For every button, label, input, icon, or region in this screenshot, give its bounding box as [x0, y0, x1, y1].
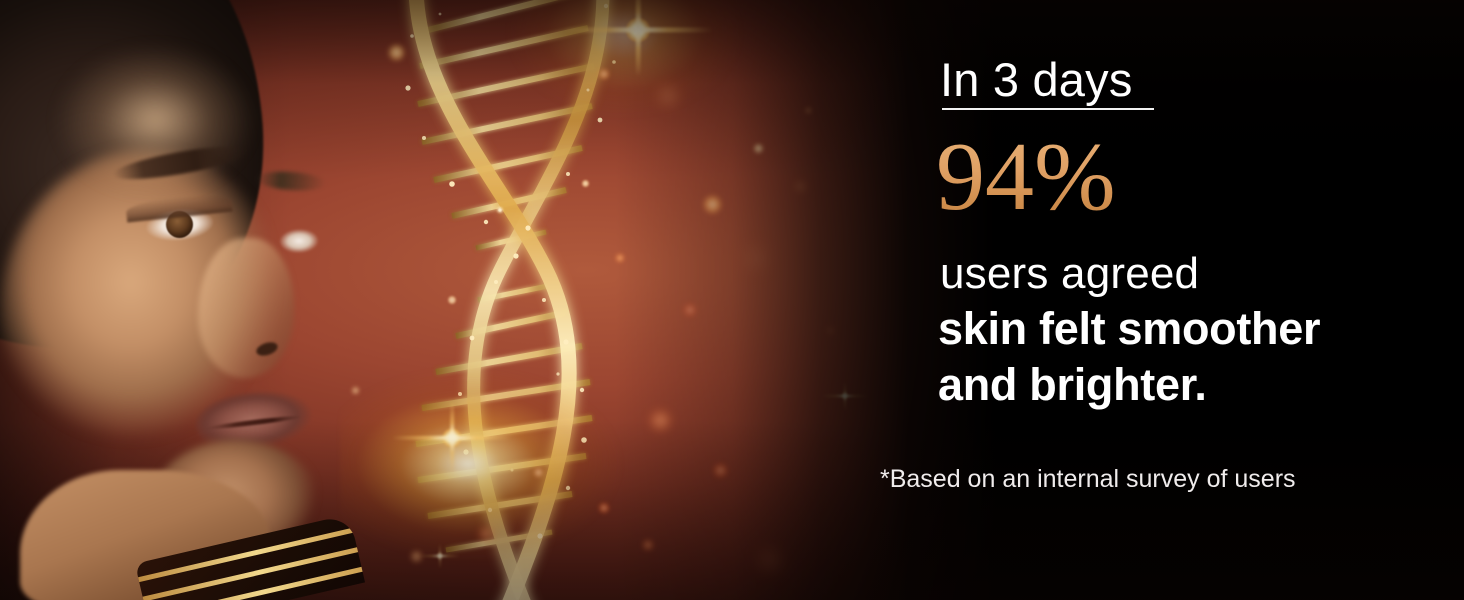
promo-banner: In 3 days 94% users agreed skin felt smo… [0, 0, 1464, 600]
claim-line-bold-1: skin felt smoother [938, 306, 1320, 351]
eye-far [272, 227, 327, 255]
claim-line-light: users agreed [940, 252, 1199, 296]
eyebrow-underline [942, 108, 1154, 110]
marketing-copy-panel: In 3 days 94% users agreed skin felt smo… [878, 0, 1418, 600]
woman-portrait [0, 0, 400, 600]
stat-percentage: 94% [936, 128, 1116, 226]
nose [198, 238, 294, 378]
eyebrow-headline: In 3 days [940, 56, 1133, 103]
footnote-disclaimer: *Based on an internal survey of users [880, 467, 1296, 492]
claim-line-bold-2: and brighter. [938, 362, 1207, 407]
